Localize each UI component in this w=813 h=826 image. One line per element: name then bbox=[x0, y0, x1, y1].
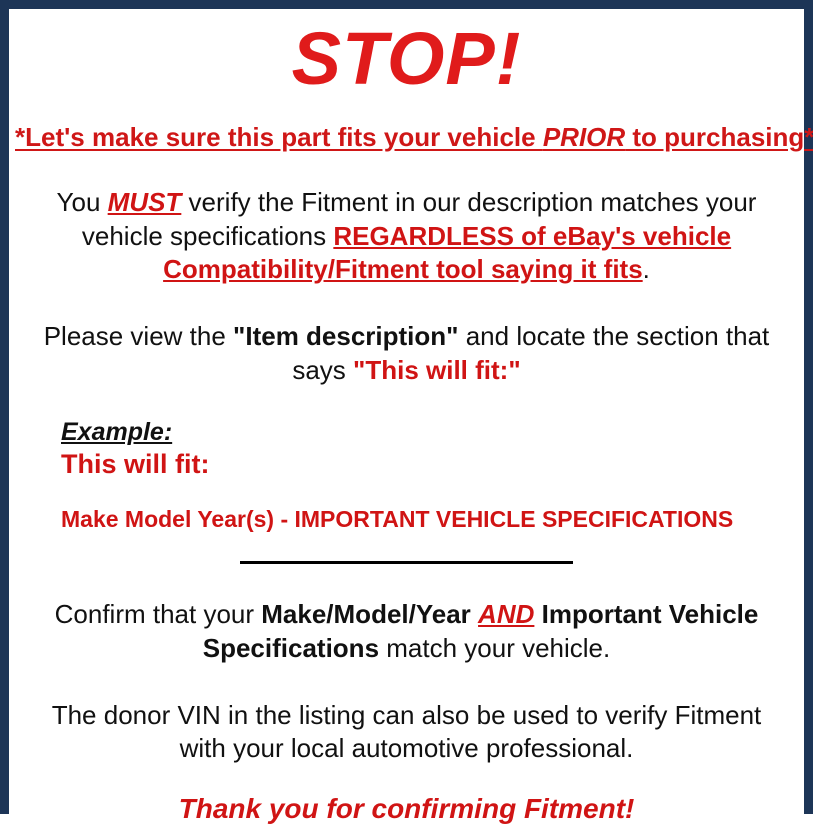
must-seg-3: . bbox=[643, 254, 650, 284]
confirm-paragraph: Confirm that your Make/Model/Year AND Im… bbox=[15, 598, 798, 666]
tagline-text-before: *Let's make sure this part fits your veh… bbox=[15, 122, 543, 152]
example-this-will-fit: This will fit: bbox=[61, 449, 798, 480]
view-seg-1: Please view the bbox=[44, 321, 233, 351]
horizontal-rule bbox=[240, 561, 573, 564]
fitment-notice-body: STOP! *Let's make sure this part fits yo… bbox=[9, 20, 804, 816]
donor-vin-paragraph: The donor VIN in the listing can also be… bbox=[15, 699, 798, 767]
confirm-space-2 bbox=[534, 599, 541, 629]
fitment-notice-frame: STOP! *Let's make sure this part fits yo… bbox=[0, 0, 813, 814]
example-block: Example: This will fit: Make Model Year(… bbox=[15, 418, 798, 532]
example-spec-line: Make Model Year(s) - IMPORTANT VEHICLE S… bbox=[61, 506, 798, 532]
confirm-seg-2: match your vehicle. bbox=[379, 633, 610, 663]
confirm-seg-1: Confirm that your bbox=[55, 599, 262, 629]
stop-heading: STOP! bbox=[15, 20, 798, 98]
confirm-space-1 bbox=[471, 599, 478, 629]
must-emphasis: MUST bbox=[108, 187, 182, 217]
divider-wrapper bbox=[15, 554, 798, 572]
item-description-paragraph: Please view the "Item description" and l… bbox=[15, 320, 798, 388]
and-emphasis: AND bbox=[478, 599, 534, 629]
example-label-row: Example: bbox=[61, 418, 798, 447]
make-model-year-label: Make/Model/Year bbox=[261, 599, 471, 629]
item-description-label: "Item description" bbox=[233, 321, 458, 351]
example-label: Example: bbox=[61, 418, 172, 447]
must-seg-1: You bbox=[57, 187, 108, 217]
tagline-text-after: to purchasing* bbox=[625, 122, 813, 152]
tagline-emphasis-prior: PRIOR bbox=[543, 122, 625, 152]
fitment-tagline: *Let's make sure this part fits your veh… bbox=[15, 122, 798, 153]
thank-you-line: Thank you for confirming Fitment! bbox=[15, 792, 798, 826]
this-will-fit-label: "This will fit:" bbox=[353, 355, 521, 385]
must-verify-paragraph: You MUST verify the Fitment in our descr… bbox=[15, 186, 798, 287]
